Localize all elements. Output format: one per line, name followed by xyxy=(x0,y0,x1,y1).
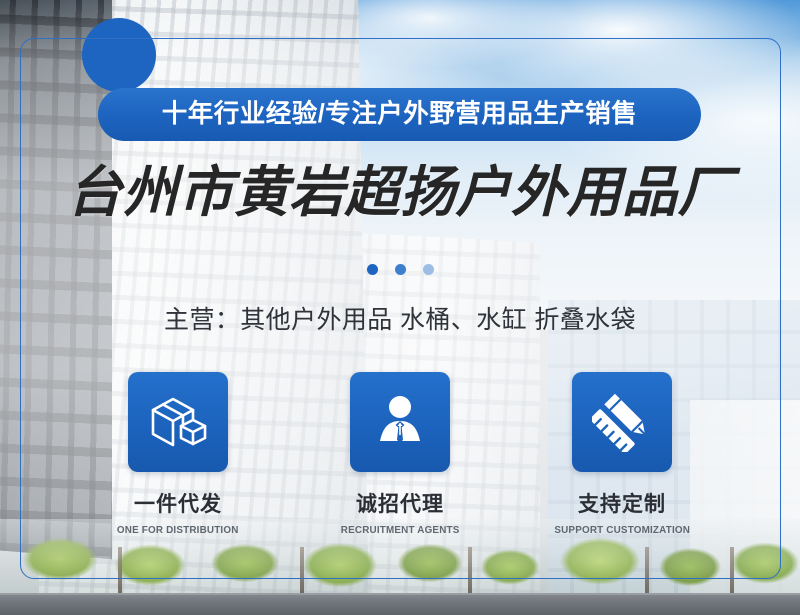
feature-label-cn: 诚招代理 xyxy=(356,488,444,518)
separator-dot-2 xyxy=(395,264,406,275)
company-banner: 十年行业经验/专注户外野营用品生产销售 台州市黄岩超扬户外用品厂 主营：其他户外… xyxy=(0,0,800,615)
tagline-pill: 十年行业经验/专注户外野营用品生产销售 xyxy=(98,88,701,141)
feature-label-cn: 支持定制 xyxy=(578,488,666,518)
package-box-icon xyxy=(147,393,209,451)
feature-item-dropshipping: 一件代发 ONE FOR DISTRIBUTION xyxy=(123,372,233,536)
tagline-text: 十年行业经验/专注户外野营用品生产销售 xyxy=(162,102,638,128)
feature-icon-tile xyxy=(128,372,228,472)
banner-content: 十年行业经验/专注户外野营用品生产销售 台州市黄岩超扬户外用品厂 主营：其他户外… xyxy=(0,0,800,615)
main-products-subheading: 主营：其他户外用品 水桶、水缸 折叠水袋 xyxy=(0,300,800,336)
company-name-heading: 台州市黄岩超扬户外用品厂 xyxy=(0,164,800,222)
feature-label-en: ONE FOR DISTRIBUTION xyxy=(117,524,239,536)
feature-icon-tile xyxy=(350,372,450,472)
feature-list: 一件代发 ONE FOR DISTRIBUTION xyxy=(0,372,800,536)
separator-dot-1 xyxy=(367,264,378,275)
feature-item-customization: 支持定制 SUPPORT CUSTOMIZATION xyxy=(567,372,677,536)
feature-label-cn: 一件代发 xyxy=(134,488,222,518)
business-person-icon xyxy=(371,393,429,451)
feature-icon-tile xyxy=(572,372,672,472)
feature-label-en: RECRUITMENT AGENTS xyxy=(341,524,460,536)
dot-separator xyxy=(0,264,800,275)
feature-label-en: SUPPORT CUSTOMIZATION xyxy=(554,524,690,536)
feature-item-agents: 诚招代理 RECRUITMENT AGENTS xyxy=(345,372,455,536)
separator-dot-3 xyxy=(423,264,434,275)
pencil-ruler-icon xyxy=(592,392,652,452)
